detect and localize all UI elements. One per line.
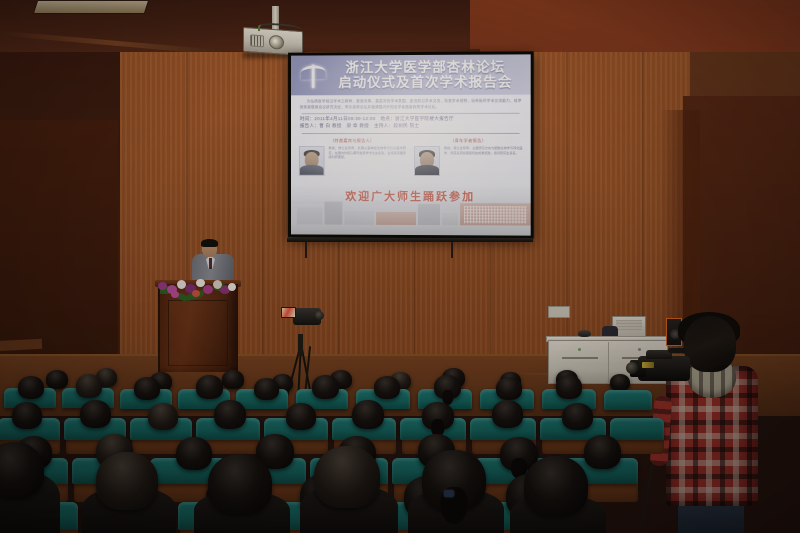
audience-head [610,374,630,391]
slide-intro-paragraph: 为弘扬医学前沿学术之精神，营造浓厚、高层次的学术氛围，促进前沿学术交流，拓宽学术… [300,99,522,111]
speaker-bio: 教授、博士生导师，长期从事神经生物学与分子医学研究，在国内外核心期刊发表学术论文… [329,146,407,176]
desk-equipment [578,330,591,337]
audience-head [208,454,272,514]
audience-head [422,450,486,510]
desk-indicator-light [578,348,581,351]
audience-head [584,435,621,469]
speaker-portrait [299,146,325,176]
photo-building [325,201,343,227]
projector-vent [250,34,264,47]
audience-head [556,375,582,399]
camcorder-lens-icon [315,311,324,320]
caduceus-medical-emblem-icon [297,58,331,92]
projector-lens-icon [269,35,284,50]
audience-head [222,370,244,389]
speaker-card: （特邀嘉宾与报告人） 教授、博士生导师，长期从事神经生物学与分子医学研究，在国内… [299,138,406,176]
audience-head [176,437,212,470]
slide-speakers-row: （特邀嘉宾与报告人） 教授、博士生导师，长期从事神经生物学与分子医学研究，在国内… [291,138,531,176]
photo-ground [291,224,531,235]
screen-bottom-bar [287,238,533,242]
podium-front-panel [168,300,228,366]
audience-head [148,403,178,430]
camcorder [281,306,323,328]
portrait-body [415,165,439,175]
slide-header-band: 浙江大学医学部杏林论坛 启动仪式及首次学术报告会 [291,54,531,95]
audience-head [214,400,246,429]
speaker-caption: （特邀嘉宾与报告人） [299,138,406,144]
auditorium-seat[interactable] [604,390,652,410]
audience-head [12,402,42,429]
slide-title-block: 浙江大学医学部杏林论坛 启动仪式及首次学术报告会 [330,59,530,90]
photo-windows [464,206,527,223]
photo-building [418,203,440,227]
audience-head [314,446,380,508]
slide-welcome-text: 欢迎广大师生踊跃参加 [291,188,531,205]
ceiling-light-panel [33,0,150,14]
projection-screen: 浙江大学医学部杏林论坛 启动仪式及首次学术报告会 为弘扬医学前沿学术之精神，营造… [288,51,534,238]
screen-hanger-right [451,242,453,258]
slide-title-line-2: 启动仪式及首次学术报告会 [330,75,520,91]
audience-head [134,377,160,400]
audience-head [352,400,384,429]
audience-head [492,400,523,428]
audience-head [18,376,44,399]
speaker-bio: 教授、博士生导师，主要研究方向为细胞生物学与转化医学，曾获多项省部级科技成果奖励… [444,146,523,176]
audience-head [80,400,111,428]
audience-head [254,378,279,400]
audience-head [196,375,223,399]
audience-head [76,374,102,398]
camcorder-lcd-screen [281,307,296,318]
audience-head [312,375,339,399]
speaker-caption: （青年学者报告） [414,138,523,144]
audience-head [496,377,522,400]
audience-head [562,403,593,430]
presenter-tie [209,258,212,269]
audience-head [422,402,454,430]
podium-flower-arrangement [156,274,240,300]
desk-drawer-handle [562,357,598,359]
auditorium-photo: 浙江大学医学部杏林论坛 启动仪式及首次学术报告会 为弘扬医学前沿学术之精神，营造… [0,0,800,533]
audience-head [96,452,158,510]
auditorium-seat[interactable] [610,418,664,440]
audience-head [374,376,400,399]
wall-mounted-box [548,306,570,318]
audience-head [524,456,588,516]
audience-head [286,403,316,430]
slide-divider-top [302,113,520,114]
presentation-slide: 浙江大学医学部杏林论坛 启动仪式及首次学术报告会 为弘扬医学前沿学术之精神，营造… [291,54,531,235]
presenter-hair [201,239,218,247]
monitor-screen [616,320,642,332]
screen-hanger-left [305,242,307,258]
camera-microphone-icon [668,348,686,353]
speaker-card: （青年学者报告） 教授、博士生导师，主要研究方向为细胞生物学与转化医学，曾获多项… [414,138,523,176]
slide-body: 为弘扬医学前沿学术之精神，营造浓厚、高层次的学术氛围，促进前沿学术交流，拓宽学术… [291,95,531,134]
hair-tie [444,490,454,497]
portrait-body [300,165,324,175]
audience-seating-area [0,360,800,533]
slide-divider-bottom [302,133,520,134]
photo-building-red [376,212,416,225]
left-wall-panel [0,120,118,370]
slide-title-line-1: 浙江大学医学部杏林论坛 [330,59,520,75]
tripod-center-column [298,334,303,356]
speaker-portrait [414,146,440,176]
slide-info-line-2: 报告人：曹 白 教授 梁 章 教授 主持人：段树民 院士 [300,123,522,130]
audience-head [434,375,461,399]
audience-head [46,370,68,389]
